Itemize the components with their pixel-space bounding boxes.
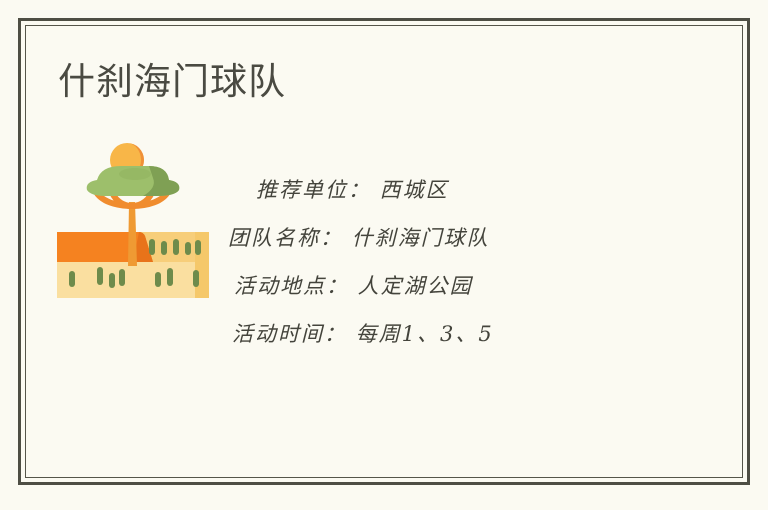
tree-trunk — [128, 202, 137, 266]
team-details-block: 推荐单位： 西城区 团队名称： 什刹海门球队 活动地点： 人定湖公园 活动时间：… — [228, 166, 568, 358]
tree-canopy — [87, 166, 180, 196]
page-title: 什刹海门球队 — [58, 57, 286, 107]
detail-line-activity-time: 活动时间： 每周1、3、5 — [228, 310, 568, 358]
detail-line-team-name: 团队名称： 什刹海门球队 — [228, 214, 568, 262]
detail-line-recommending-unit: 推荐单位： 西城区 — [228, 166, 568, 214]
detail-line-activity-location: 活动地点： 人定湖公园 — [228, 262, 568, 310]
ground-lower-band — [57, 262, 209, 298]
info-card: 什刹海门球队 — [0, 0, 768, 510]
savanna-illustration — [57, 140, 209, 300]
